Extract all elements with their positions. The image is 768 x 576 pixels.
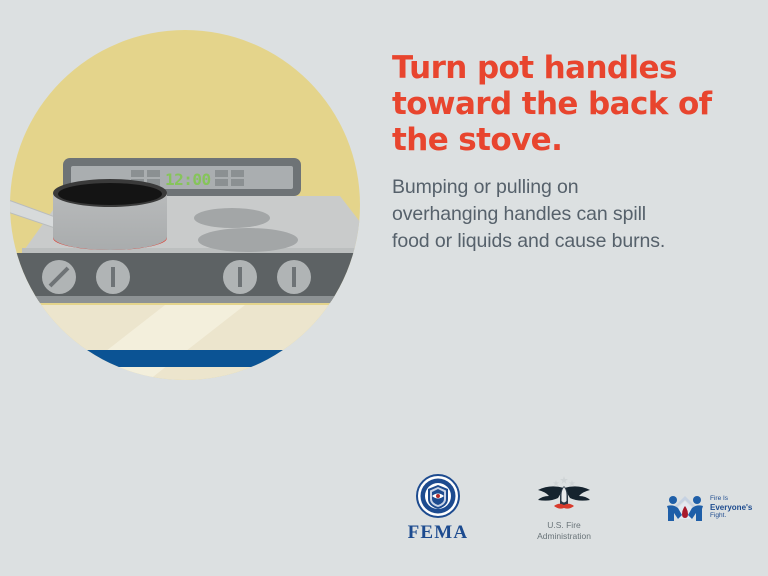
dhs-seal-icon [392, 473, 484, 519]
text-column: Turn pot handles toward the back of the … [392, 50, 740, 255]
body-line-2: overhanging handles can spill [392, 203, 646, 225]
feef-line-2: Everyone's [710, 504, 752, 513]
logo-bar: FEMA U.S. Fire Administration [392, 466, 752, 550]
body-line-3: food or liquids and cause burns. [392, 230, 665, 252]
feef-logo-block: Fire Is Everyone's Fight. [664, 491, 752, 525]
usfa-logo-block: U.S. Fire Administration [516, 474, 612, 542]
front-right-burner [198, 228, 298, 252]
headline-line-2: toward the back of [392, 86, 712, 122]
usfa-eagle-icon [516, 474, 612, 518]
body-line-1: Bumping or pulling on [392, 176, 579, 198]
oven-door-handle [38, 350, 348, 367]
stove-illustration: 12:00 [0, 0, 384, 460]
feef-text: Fire Is Everyone's Fight. [710, 495, 752, 521]
usfa-label-line-2: Administration [537, 531, 591, 541]
fema-logo-block: FEMA [392, 473, 484, 544]
headline-line-3: the stove. [392, 122, 562, 158]
rear-right-burner [194, 208, 270, 228]
oven-door [28, 305, 358, 387]
pot [53, 179, 167, 250]
body-copy: Bumping or pulling on overhanging handle… [392, 174, 740, 255]
fema-wordmark: FEMA [408, 522, 469, 544]
fire-is-everyones-fight-icon [664, 491, 706, 525]
stove-knob-panel [8, 253, 384, 303]
headline-line-1: Turn pot handles [392, 50, 677, 86]
feef-line-3: Fight. [710, 512, 752, 521]
usfa-label: U.S. Fire Administration [537, 520, 591, 542]
stove-clock-display: 12:00 [165, 170, 211, 189]
usfa-label-line-1: U.S. Fire [547, 520, 581, 530]
page-title: Turn pot handles toward the back of the … [392, 50, 740, 158]
